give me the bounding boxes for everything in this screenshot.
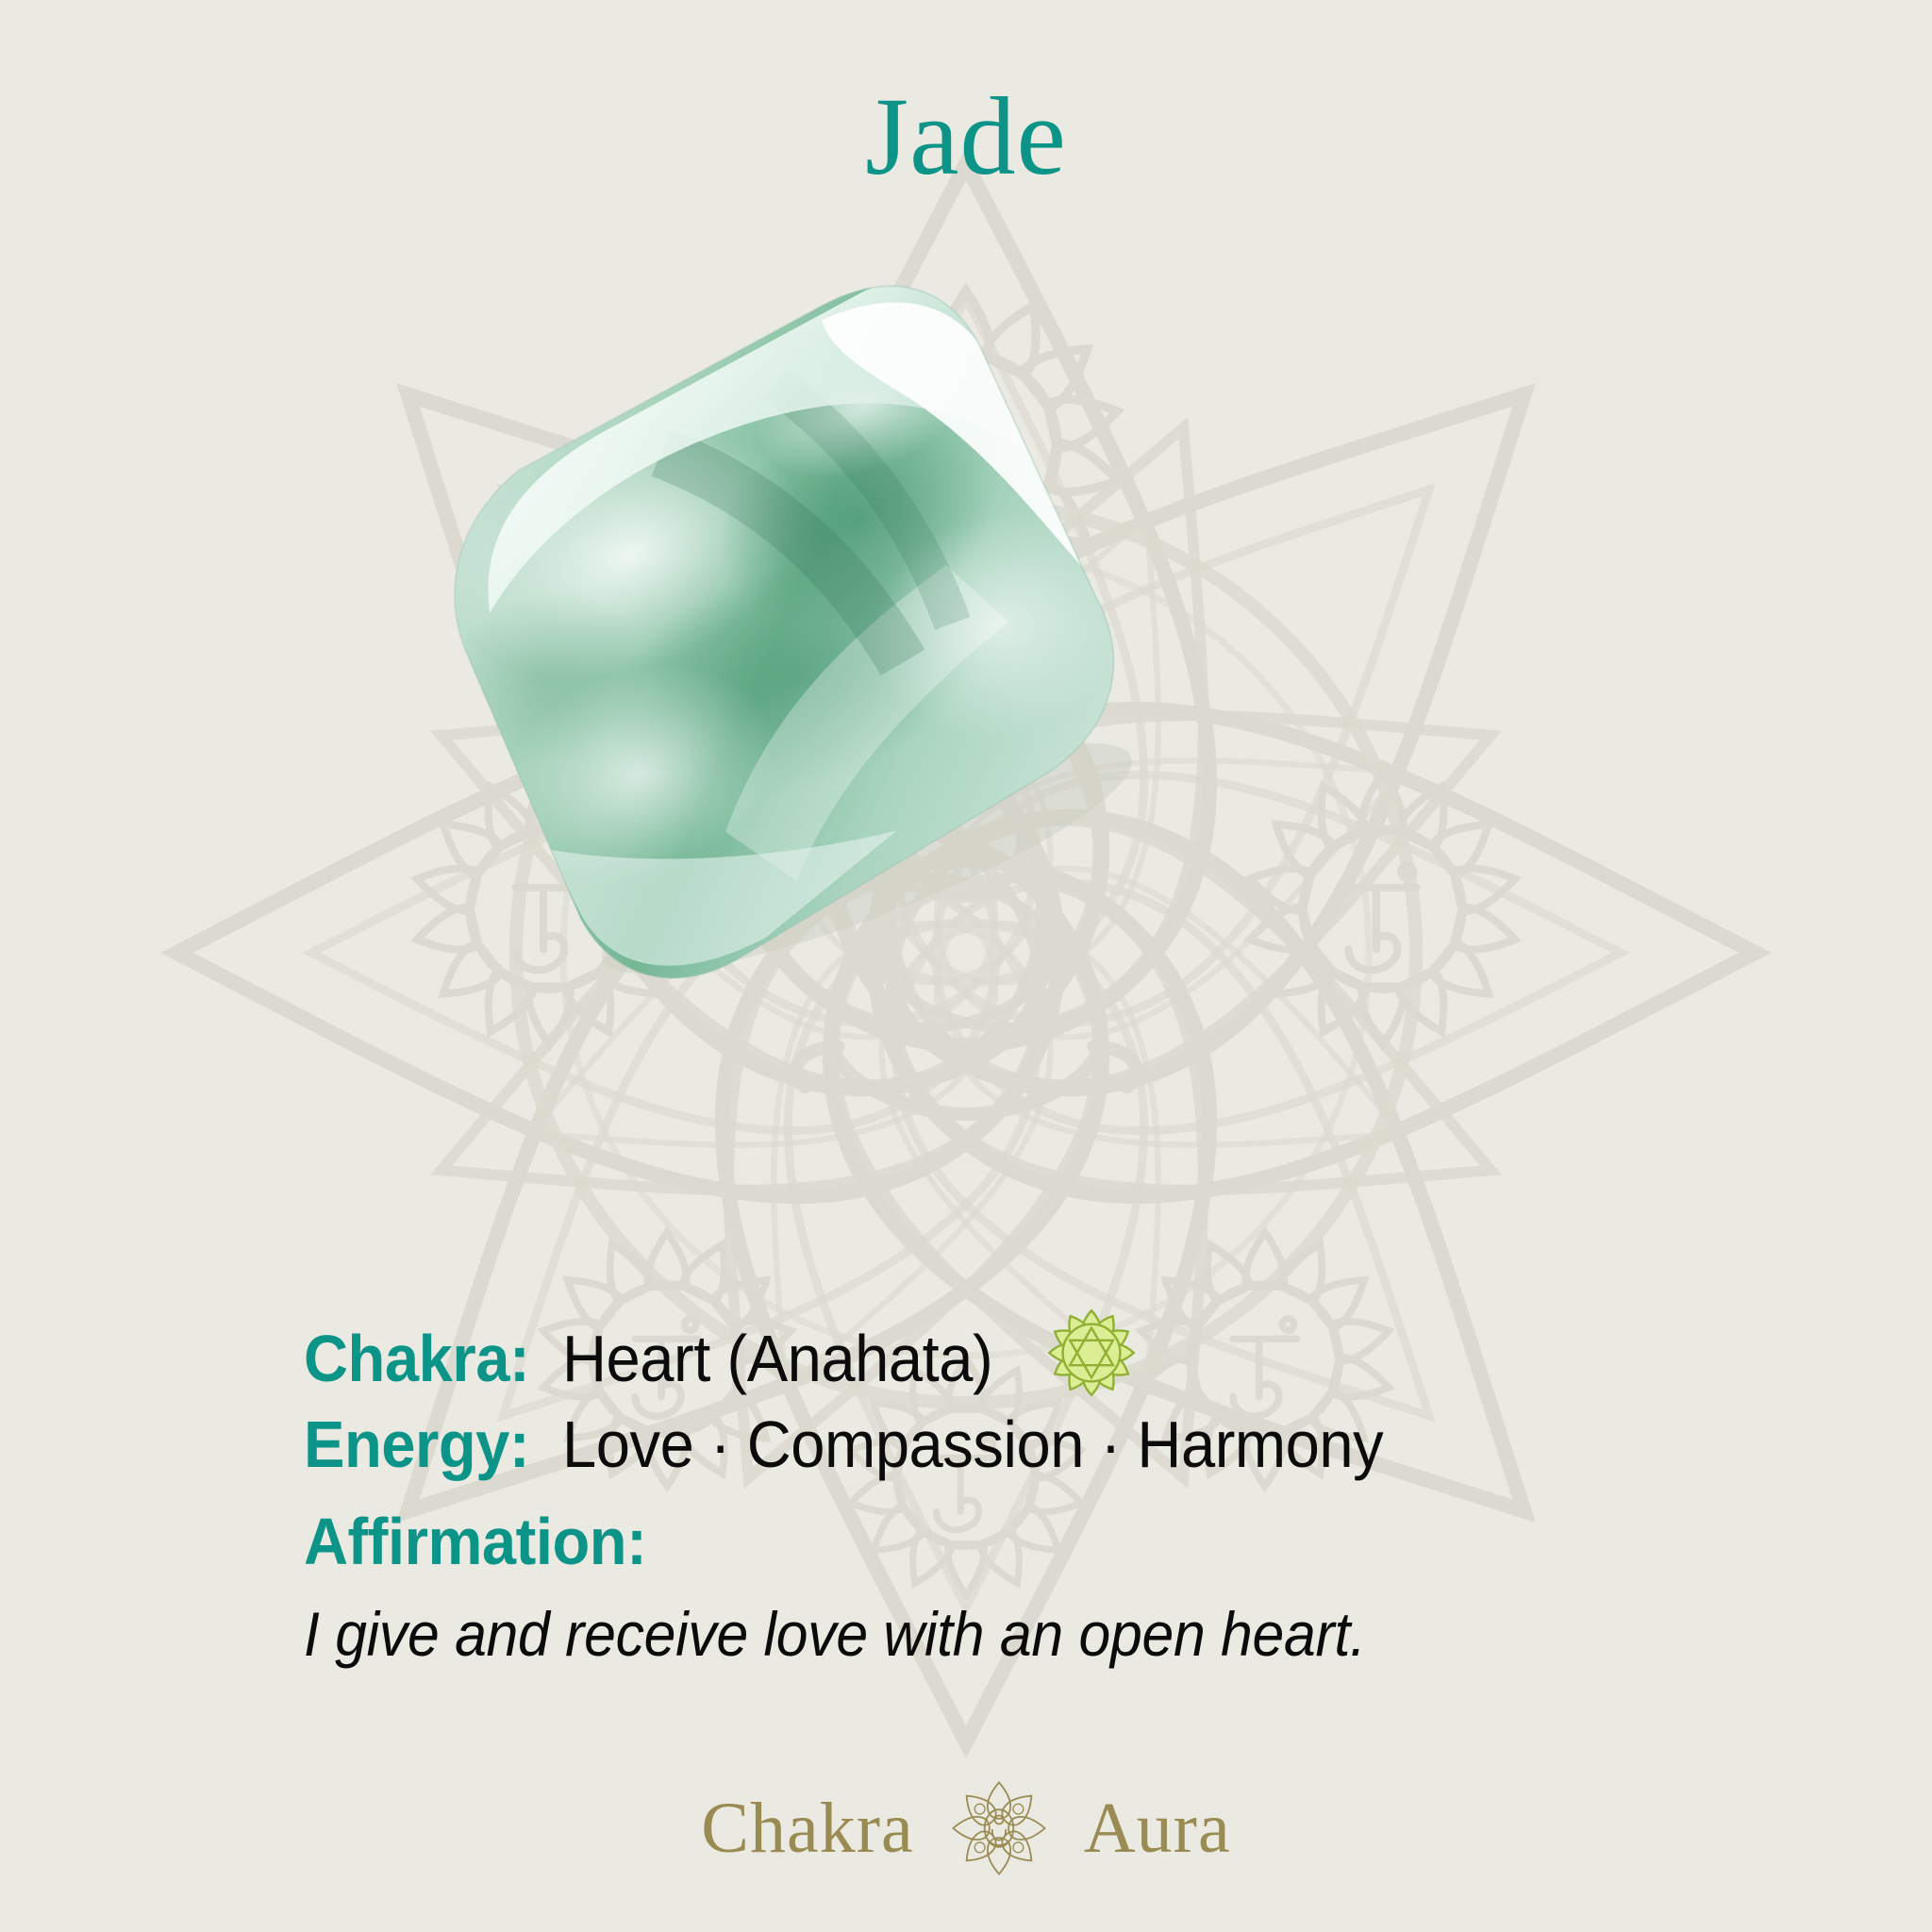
affirmation-label: Affirmation: [304,1506,1550,1578]
chakra-row: Chakra: Heart (Anahata) [304,1291,1643,1395]
brand-word-chakra: Chakra [701,1792,913,1864]
anahata-heart-chakra-icon [1046,1307,1137,1398]
crystal-info-card: Jade [0,0,1932,1932]
chakra-value: Heart (Anahata) [562,1323,992,1395]
page-title: Jade [0,81,1932,192]
energy-value: Love · Compassion · Harmony [562,1408,1383,1481]
jade-stone-icon [285,192,1261,1092]
energy-row: Energy: Love · Compassion · Harmony [304,1408,1643,1481]
attributes-block: Chakra: Heart (Anahata) Energy: Love · C… [304,1291,1643,1671]
energy-label: Energy: [304,1408,544,1481]
hero-image [377,311,1170,972]
affirmation-text: I give and receive love with an open hea… [304,1599,1536,1671]
brand-word-aura: Aura [1084,1792,1231,1864]
lotus-meditation-logo [948,1777,1050,1879]
chakra-label: Chakra: [304,1323,544,1395]
brand-footer: Chakra Aura [0,1777,1932,1879]
